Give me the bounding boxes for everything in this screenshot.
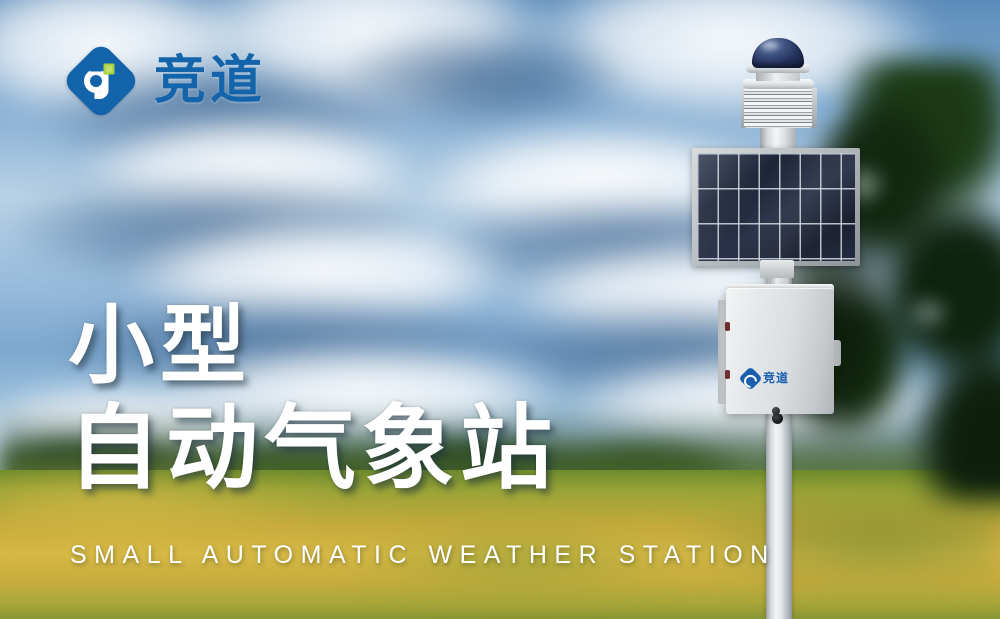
enclosure-brand-logo: 竞道 (742, 368, 818, 388)
banner-canvas: 环境监测站 竞道 竞道 (0, 0, 1000, 619)
headline-line-1: 小型 (68, 300, 558, 393)
enclosure-screw (725, 322, 730, 331)
enclosure-cable-gland (772, 407, 780, 415)
solar-panel-mount (760, 260, 794, 278)
enclosure-logo-text: 竞道 (763, 372, 789, 384)
environmental-monitoring-enclosure: 环境监测站 (726, 288, 834, 414)
jingdao-diamond-logo-icon (64, 44, 138, 118)
ultrasonic-weather-sensor-dome (752, 38, 804, 68)
headline-line-2: 自动气象站 (68, 399, 558, 498)
page-subtitle: SMALL AUTOMATIC WEATHER STATION (70, 541, 776, 570)
louvered-radiation-shield (744, 88, 812, 128)
enclosure-screw (725, 370, 730, 379)
solar-panel-cells (697, 153, 855, 261)
solar-panel (692, 148, 860, 266)
brand-name: 竞道 (154, 55, 266, 107)
brand-logo[interactable]: 竞道 (64, 44, 266, 118)
radiation-shield-edge (812, 88, 817, 128)
jingdao-diamond-logo-icon (738, 366, 762, 390)
page-title: 小型 自动气象站 (68, 300, 558, 498)
logo-glyph (64, 44, 138, 118)
